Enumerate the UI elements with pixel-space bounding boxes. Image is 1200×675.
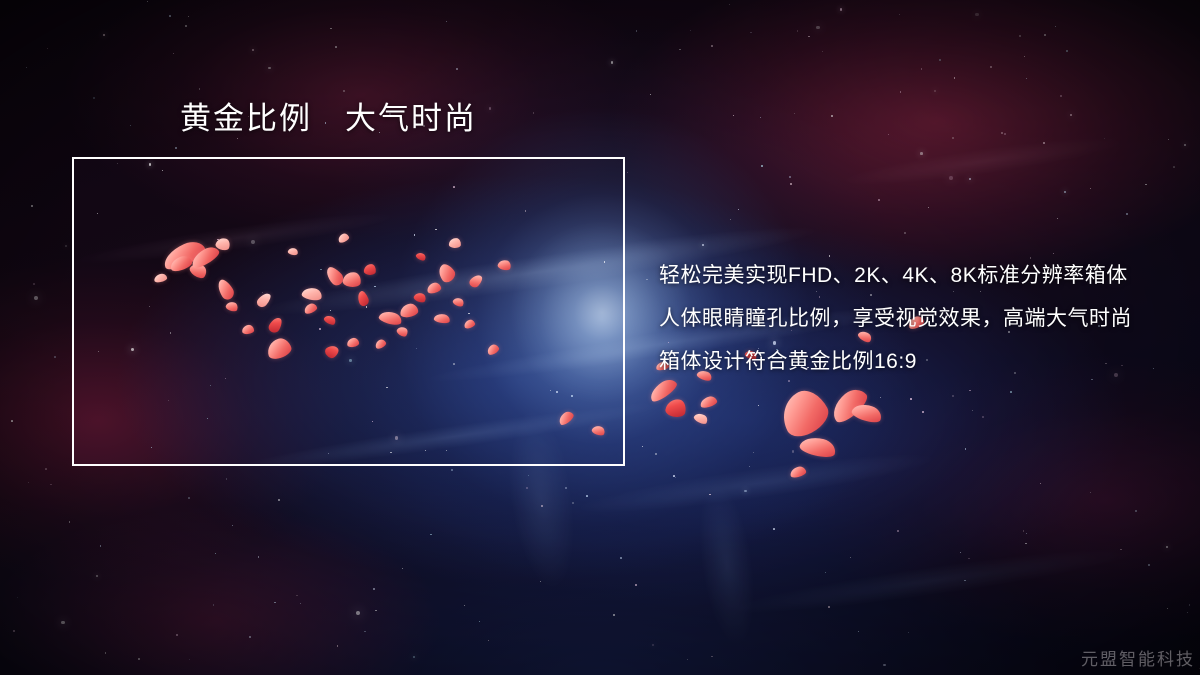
petal	[433, 313, 450, 325]
petal	[303, 302, 318, 315]
petal	[435, 261, 458, 284]
petal	[486, 343, 501, 357]
petal	[789, 465, 807, 479]
petal	[323, 314, 337, 327]
petal	[463, 318, 476, 329]
petal	[426, 281, 442, 294]
petal	[267, 315, 284, 334]
petal	[374, 338, 387, 350]
petal	[774, 384, 834, 443]
petal	[452, 296, 465, 308]
watermark: 元盟智能科技	[1081, 650, 1195, 670]
petal	[798, 434, 837, 460]
petal	[265, 336, 294, 361]
body-line-3: 箱体设计符合黄金比例16:9	[659, 340, 1159, 383]
petal	[664, 397, 687, 419]
petal	[693, 411, 710, 426]
petal	[323, 343, 341, 360]
petal	[337, 232, 350, 244]
petal	[415, 251, 427, 262]
petal	[323, 264, 346, 288]
petal	[242, 324, 255, 334]
petal	[591, 424, 606, 437]
petal	[413, 291, 427, 304]
petal	[255, 291, 273, 310]
body-copy: 轻松完美实现FHD、2K、4K、8K标准分辨率箱体 人体眼睛瞳孔比例，享受视觉效…	[659, 254, 1159, 383]
petal	[287, 247, 298, 256]
petal	[225, 300, 239, 313]
petal	[363, 263, 376, 275]
petal	[557, 409, 576, 426]
body-line-2: 人体眼睛瞳孔比例，享受视觉效果，高端大气时尚	[659, 297, 1159, 340]
framed-product-image[interactable]	[72, 157, 625, 466]
petal	[346, 337, 359, 348]
frame-inner	[74, 159, 623, 464]
page-title: 黄金比例 大气时尚	[180, 101, 477, 137]
frame-flower-petals	[74, 159, 623, 464]
petal	[356, 290, 371, 308]
petal	[153, 273, 167, 284]
petal	[399, 303, 419, 319]
petal	[214, 277, 236, 302]
body-line-1: 轻松完美实现FHD、2K、4K、8K标准分辨率箱体	[659, 254, 1159, 297]
petal	[699, 395, 718, 409]
presentation-slide: 黄金比例 大气时尚 轻松完美实现FHD、2K、4K、8K标准分辨率箱体 人体眼睛…	[0, 0, 1200, 675]
petal	[301, 286, 323, 302]
petal	[497, 258, 512, 271]
petal	[449, 238, 462, 249]
petal	[342, 271, 362, 288]
petal	[395, 325, 409, 339]
petal	[468, 272, 485, 289]
